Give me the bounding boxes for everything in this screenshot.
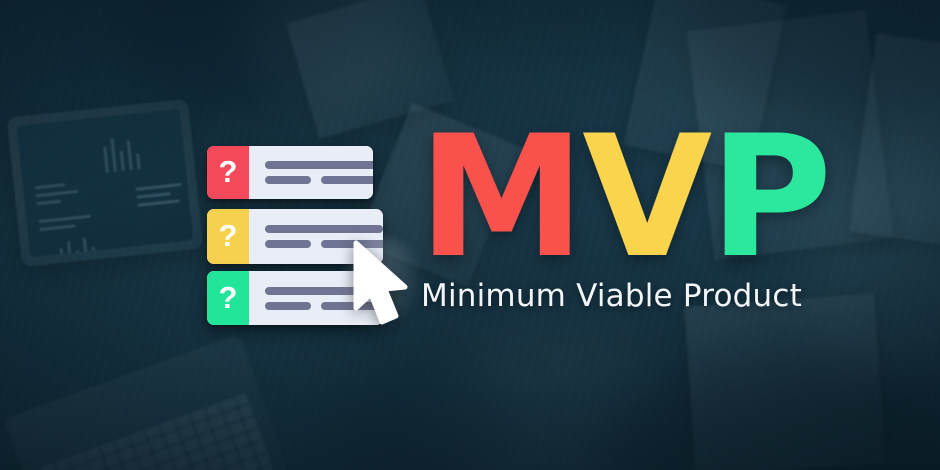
card-line-row — [265, 161, 373, 169]
content-bar — [265, 302, 311, 310]
card-content-lines — [249, 146, 373, 199]
letter-v: V — [582, 132, 709, 263]
content-bar — [265, 176, 311, 184]
card-line-row — [265, 225, 383, 233]
question-mark-icon: ? — [207, 271, 249, 325]
question-mark-icon: ? — [207, 209, 249, 264]
content-bar — [321, 176, 373, 184]
letter-p: P — [709, 132, 829, 263]
card-line-row — [265, 176, 373, 184]
question-card-red[interactable]: ? — [207, 146, 373, 199]
question-mark-glyph: ? — [219, 282, 238, 313]
content-bar — [265, 225, 383, 233]
question-mark-glyph: ? — [219, 220, 238, 251]
mouse-pointer-arrow-icon[interactable] — [352, 240, 414, 326]
question-mark-glyph: ? — [219, 156, 238, 187]
mvp-wordmark: M V P — [418, 132, 829, 263]
content-bar — [265, 240, 311, 248]
page-subtitle: Minimum Viable Product — [421, 278, 802, 314]
question-mark-icon: ? — [207, 146, 249, 199]
letter-m: M — [418, 132, 582, 263]
content-bar — [265, 161, 373, 169]
poster-canvas: ? ? — [0, 0, 940, 470]
